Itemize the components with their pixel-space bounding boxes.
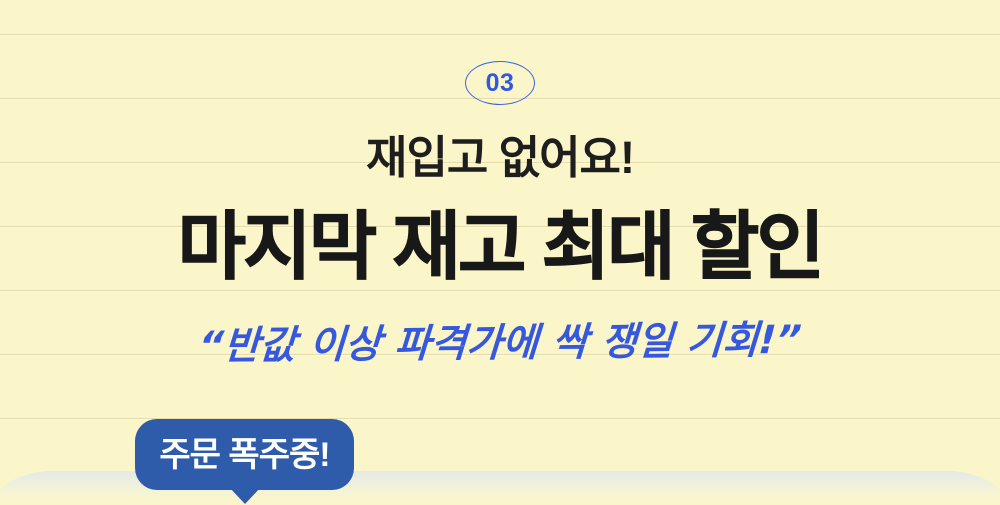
eyebrow-text: 재입고 없어요! [0,133,1000,183]
promo-banner: 03 재입고 없어요! 마지막 재고 최대 할인 “반값 이상 파격가에 싹 쟁… [0,0,1000,505]
section-number-badge: 03 [465,61,535,105]
handwritten-quote: “반값 이상 파격가에 싹 쟁일 기회!” [0,317,1000,372]
speech-bubble-tail-icon [229,487,261,504]
page-title: 마지막 재고 최대 할인 [0,208,1000,286]
section-number-label: 03 [486,71,515,96]
order-status-badge: 주문 폭주중! [135,419,354,490]
order-status-label: 주문 폭주중! [159,438,329,472]
